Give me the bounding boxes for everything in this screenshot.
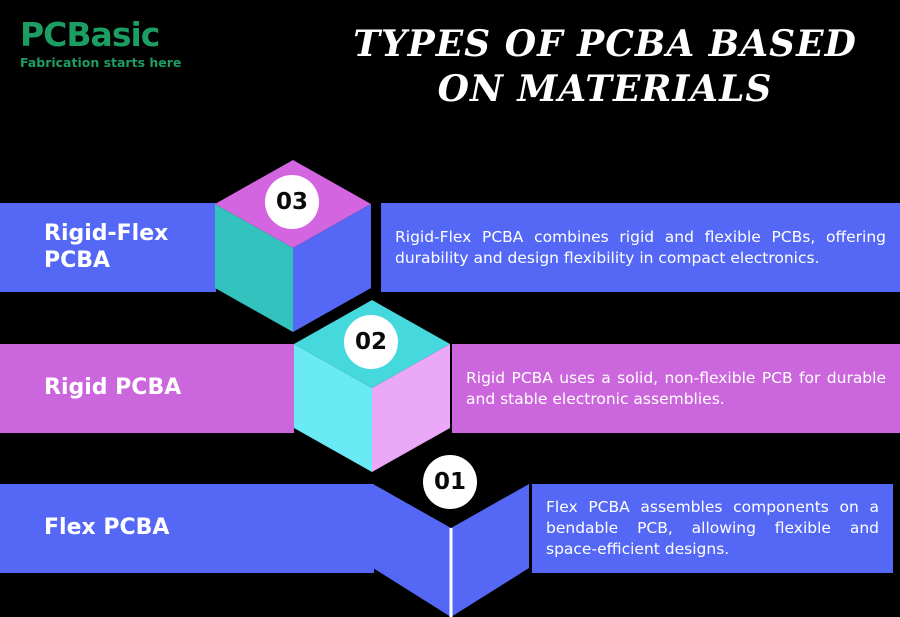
label-bar-flex-pcba[interactable]: Flex PCBA (0, 484, 374, 573)
description-panel-rigid-pcba[interactable]: Rigid PCBA uses a solid, non-flexible PC… (452, 344, 900, 433)
brand-tagline: Fabrication starts here (20, 55, 230, 70)
label-text-flex-pcba: Flex PCBA (0, 515, 169, 542)
badge-03: 03 (265, 175, 319, 229)
infographic-canvas: PCBasic Fabrication starts here TYPES OF… (0, 0, 900, 617)
badge-02: 02 (344, 315, 398, 369)
page-title: TYPES OF PCBA BASED ON MATERIALS (330, 22, 880, 111)
label-bar-rigid-flex-pcba[interactable]: Rigid-FlexPCBA (0, 203, 216, 292)
label-text-rigid-flex-pcba: Rigid-FlexPCBA (0, 221, 168, 275)
label-text-rigid-pcba: Rigid PCBA (0, 375, 181, 402)
badge-02-number: 02 (355, 329, 387, 355)
badge-01-number: 01 (434, 469, 466, 495)
description-text-flex-pcba: Flex PCBA assembles components on a bend… (532, 497, 893, 560)
label-bar-rigid-pcba[interactable]: Rigid PCBA (0, 344, 294, 433)
brand-logo: PCBasic Fabrication starts here (20, 18, 230, 70)
description-text-rigid-flex-pcba: Rigid-Flex PCBA combines rigid and flexi… (381, 227, 900, 269)
badge-01: 01 (423, 455, 477, 509)
description-text-rigid-pcba: Rigid PCBA uses a solid, non-flexible PC… (452, 368, 900, 410)
description-panel-rigid-flex-pcba[interactable]: Rigid-Flex PCBA combines rigid and flexi… (381, 203, 900, 292)
description-panel-flex-pcba[interactable]: Flex PCBA assembles components on a bend… (532, 484, 893, 573)
brand-name: PCBasic (20, 18, 230, 51)
badge-03-number: 03 (276, 189, 308, 215)
